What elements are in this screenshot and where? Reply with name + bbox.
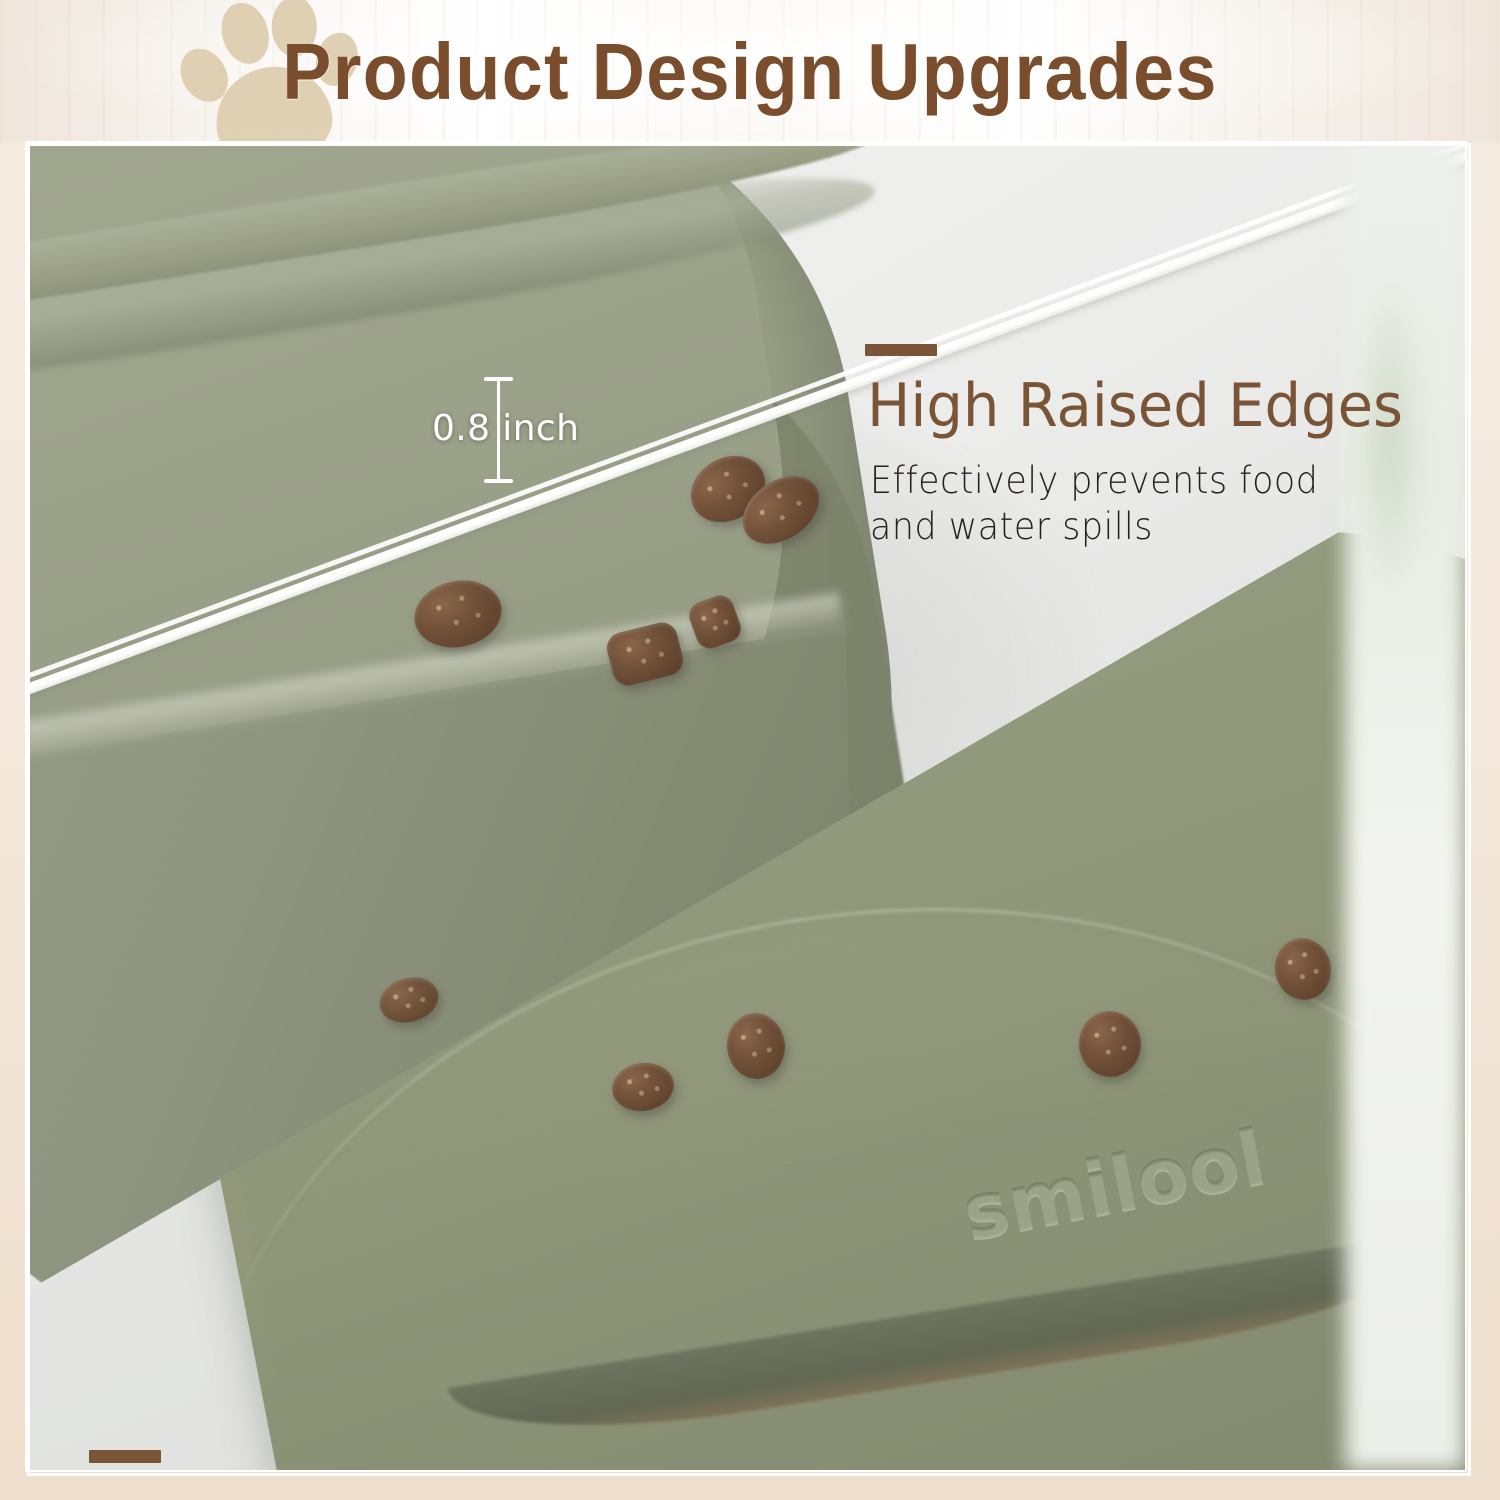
feature-accent-dash-bottom bbox=[89, 1450, 161, 1463]
feature-accent-dash-top bbox=[865, 344, 937, 356]
feature-subtext-line: Effectively prevents food bbox=[870, 458, 1465, 504]
page-title: Product Design Upgrades bbox=[60, 0, 1440, 143]
feature-heading-high-raised-edges: High Raised Edges bbox=[867, 371, 1403, 441]
header-band: Product Design Upgrades bbox=[0, 0, 1500, 143]
page-frame: Product Design Upgrades bbox=[0, 0, 1500, 1500]
product-photo-panel: 0.8 inch smilool High Raised Edges Effec… bbox=[27, 143, 1465, 1470]
photo-background-right-blur bbox=[1345, 143, 1465, 1470]
feature-subtext-high-raised-edges: Effectively prevents food and water spil… bbox=[870, 458, 1465, 550]
feature-subtext-line: and water spills bbox=[870, 504, 1465, 550]
height-measurement-label: 0.8 inch bbox=[432, 408, 579, 449]
